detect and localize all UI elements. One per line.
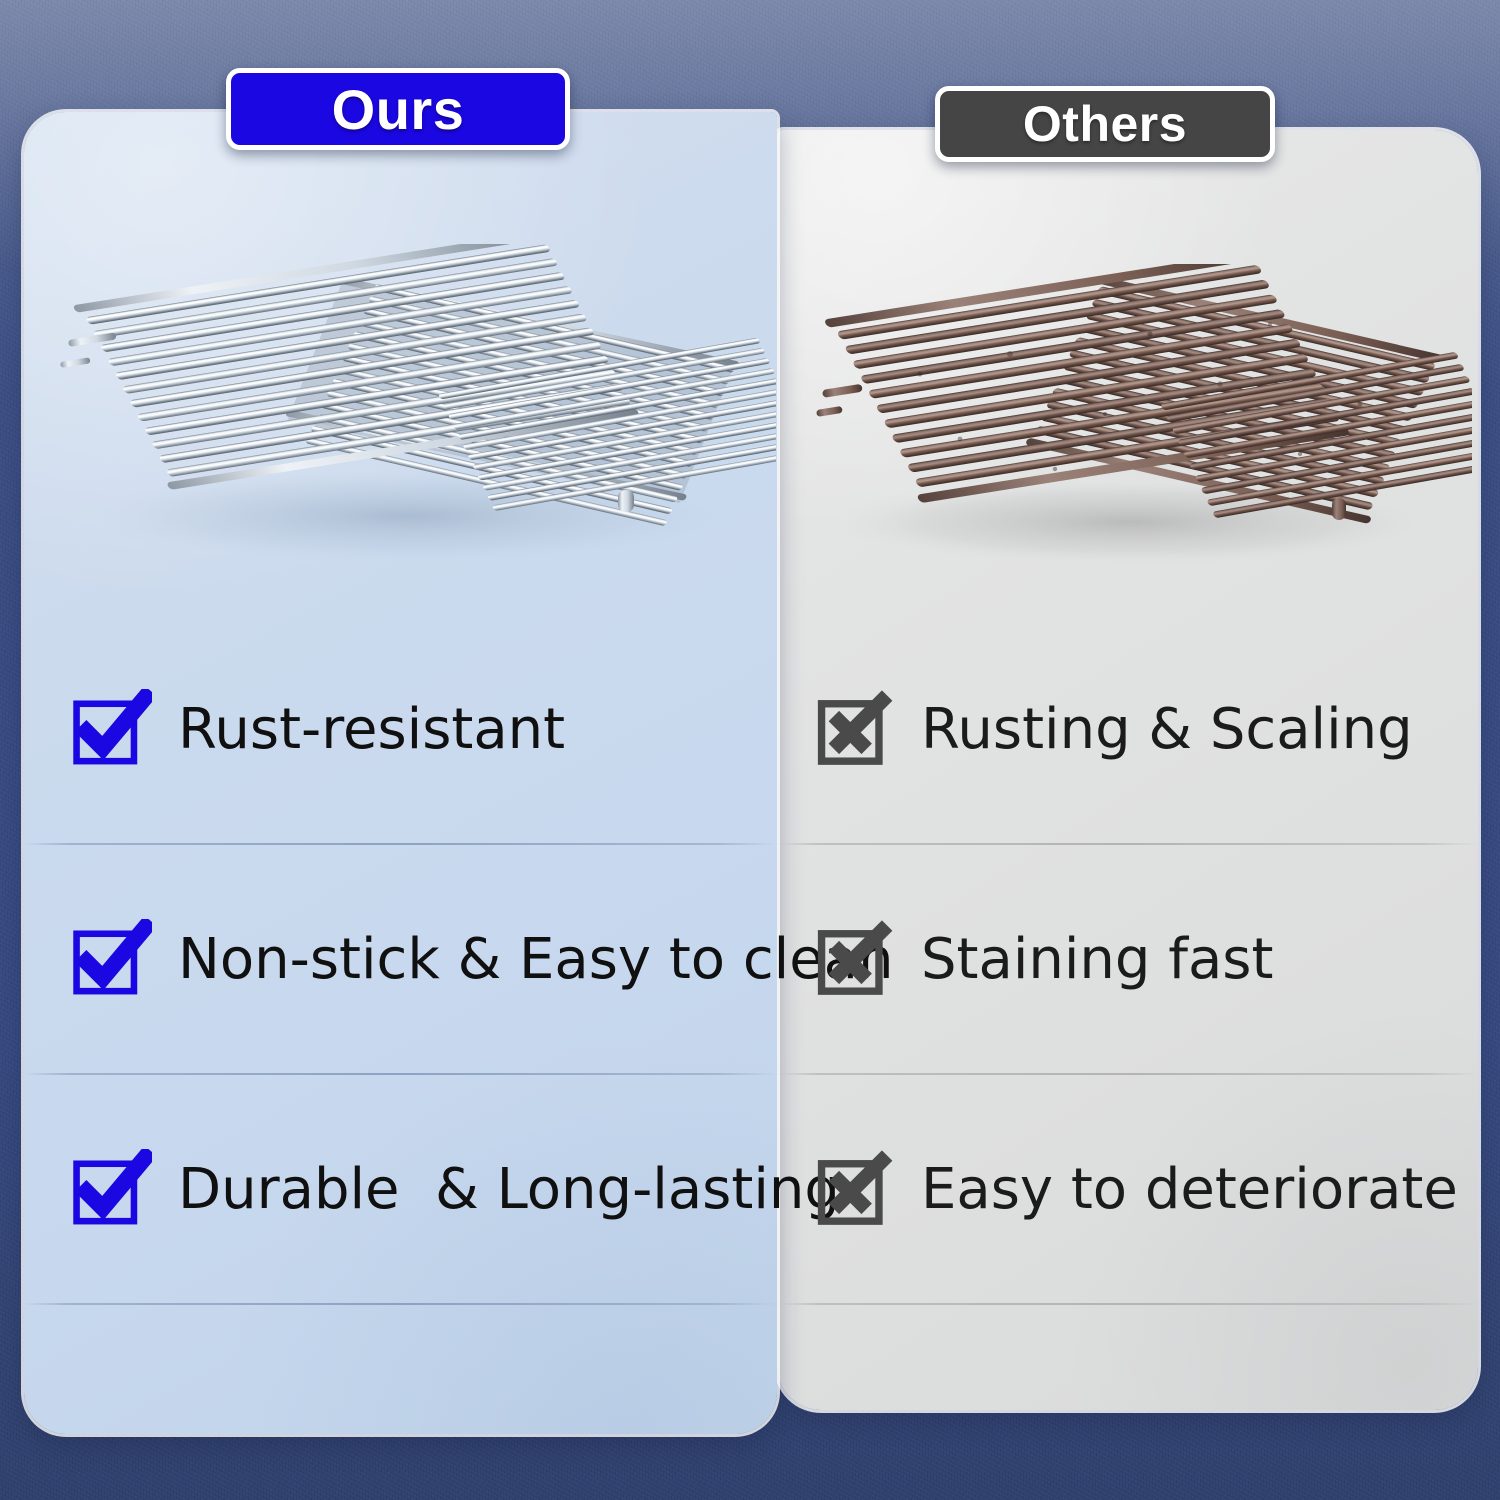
checkbox-checked-icon (70, 689, 152, 771)
checkbox-crossed-icon (815, 1149, 897, 1231)
checkbox-checked-icon (70, 1149, 152, 1231)
checkbox-crossed-icon (815, 689, 897, 771)
ours-feature-row-3: Durable & Long-lasting (24, 1075, 777, 1305)
ours-badge-label: Ours (332, 77, 465, 142)
others-feature-row-2: Staining fast (777, 845, 1478, 1075)
others-feature-list: Rusting & Scaling Staining fast Easy to … (777, 615, 1478, 1305)
others-badge: Others (935, 86, 1275, 162)
ours-feature-label: Durable & Long-lasting (178, 1161, 840, 1220)
ours-badge: Ours (226, 68, 570, 150)
others-badge-label: Others (1023, 95, 1187, 153)
rusted-grill-grates-image (800, 264, 1472, 564)
ours-feature-row-2: Non-stick & Easy to clean (24, 845, 777, 1075)
ours-feature-list: Rust-resistant Non-stick & Easy to clean… (24, 615, 777, 1305)
others-feature-row-3: Easy to deteriorate (777, 1075, 1478, 1305)
others-feature-label: Staining fast (921, 931, 1273, 990)
others-feature-label: Rusting & Scaling (921, 701, 1413, 760)
row-divider (777, 1303, 1478, 1305)
stainless-steel-grill-grates-image (46, 244, 776, 564)
others-feature-row-1: Rusting & Scaling (777, 615, 1478, 845)
checkbox-crossed-icon (815, 919, 897, 1001)
comparison-infographic: Ours Others (0, 0, 1500, 1500)
others-feature-label: Easy to deteriorate (921, 1161, 1458, 1220)
checkbox-checked-icon (70, 919, 152, 1001)
ours-feature-label: Rust-resistant (178, 701, 565, 760)
row-divider (24, 1303, 777, 1305)
ours-feature-row-1: Rust-resistant (24, 615, 777, 845)
